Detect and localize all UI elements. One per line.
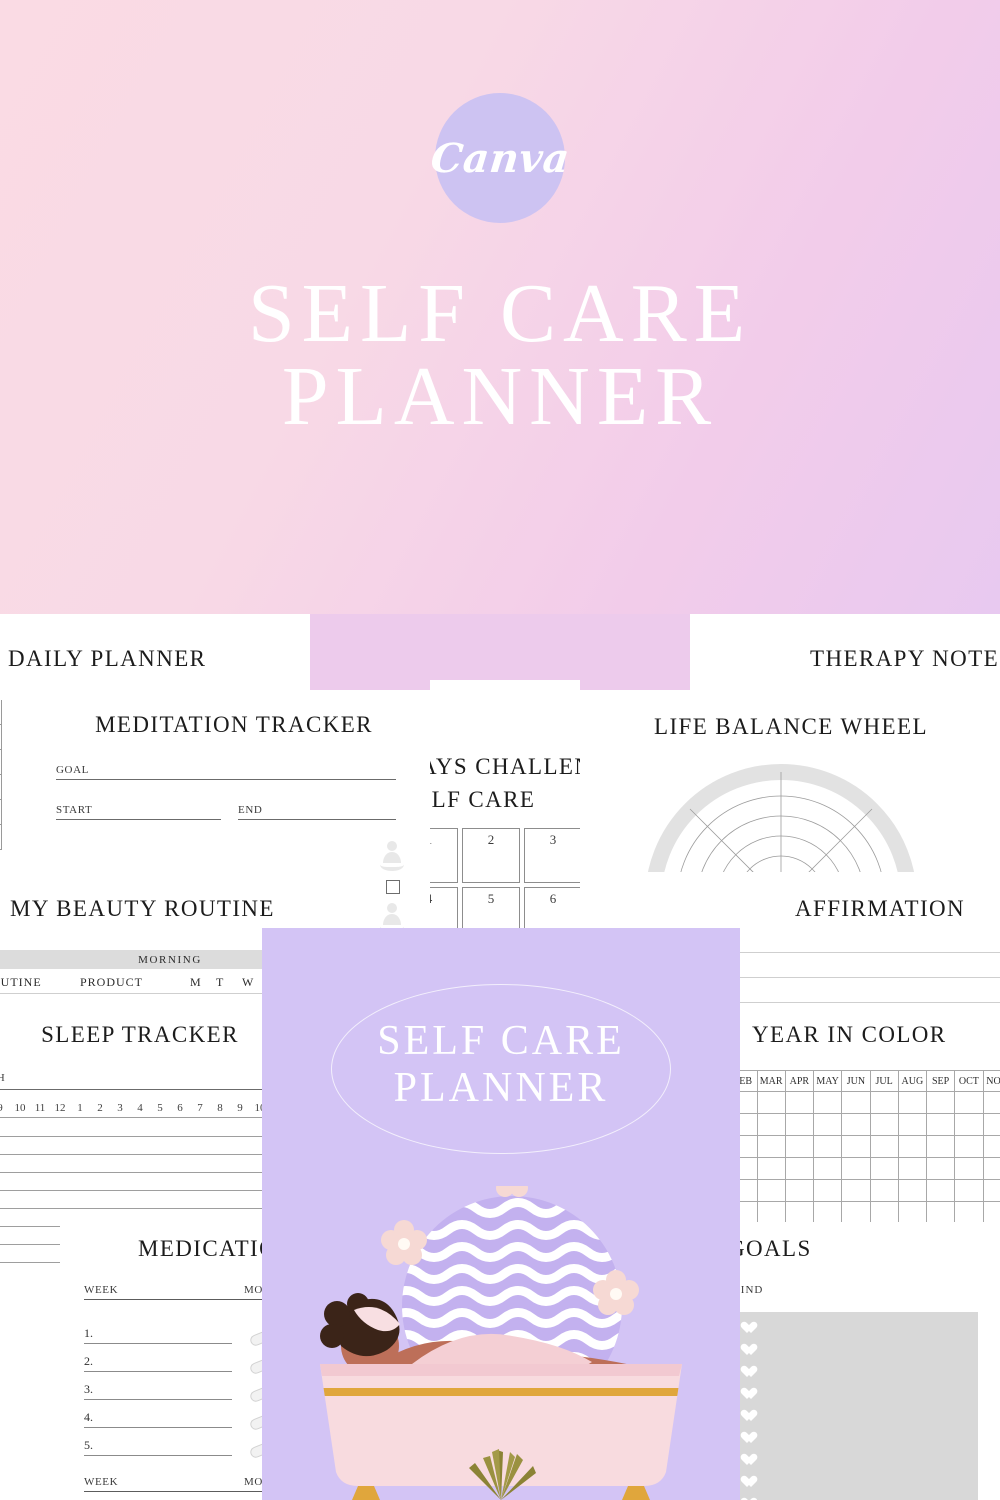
goals-panel xyxy=(738,1312,978,1500)
year-cell[interactable] xyxy=(955,1092,983,1114)
hero-banner: Canva SELF CARE PLANNER xyxy=(0,0,1000,614)
year-cell[interactable] xyxy=(814,1136,842,1158)
year-cell[interactable] xyxy=(842,1092,870,1114)
year-in-color-row[interactable] xyxy=(700,1114,1000,1136)
year-cell[interactable] xyxy=(927,1202,955,1224)
year-cell[interactable] xyxy=(899,1180,927,1202)
beauty-col-routine: ROUTINE xyxy=(0,975,80,990)
year-in-color-title: YEAR IN COLOR xyxy=(752,1022,947,1048)
year-cell[interactable] xyxy=(927,1114,955,1136)
meditation-end-field[interactable]: END xyxy=(238,804,396,820)
year-cell[interactable] xyxy=(871,1136,899,1158)
sleep-hour: 11 xyxy=(30,1102,50,1114)
year-cell[interactable] xyxy=(899,1202,927,1224)
challenge-title-line1: DAYS CHALLENGE xyxy=(430,750,580,783)
year-cell[interactable] xyxy=(899,1114,927,1136)
heart-bullet-icon[interactable] xyxy=(744,1344,757,1357)
canva-wordmark: Canva xyxy=(428,135,571,182)
canva-logo-badge: Canva xyxy=(435,93,565,223)
year-in-color-row[interactable] xyxy=(700,1180,1000,1202)
medication-row-number: 2. xyxy=(84,1354,232,1372)
sleep-hour: 12 xyxy=(50,1102,70,1114)
meditation-end-rule xyxy=(238,819,396,820)
sleep-month-label: MONTH xyxy=(0,1072,5,1084)
daily-planner-grid xyxy=(0,700,2,850)
year-in-color-header-row: JAN FEB MAR APR MAY JUN JUL AUG SEP OCT … xyxy=(700,1070,1000,1092)
year-cell[interactable] xyxy=(955,1202,983,1224)
year-cell[interactable] xyxy=(899,1158,927,1180)
meditation-start-label: START xyxy=(56,804,221,816)
sleep-hour: 9 xyxy=(0,1102,10,1114)
year-cell[interactable] xyxy=(842,1202,870,1224)
year-cell[interactable] xyxy=(871,1092,899,1114)
card-days-challenge[interactable]: DAYS CHALLENGE SELF CARE 1 2 3 4 5 6 7 8… xyxy=(430,680,580,942)
month-header: APR xyxy=(786,1070,814,1092)
medication-row-number: 1. xyxy=(84,1326,232,1344)
sleep-hour: 6 xyxy=(170,1102,190,1114)
year-cell[interactable] xyxy=(984,1092,1000,1114)
year-cell[interactable] xyxy=(786,1158,814,1180)
challenge-cell[interactable]: 2 xyxy=(462,828,520,883)
year-cell[interactable] xyxy=(814,1180,842,1202)
woman-in-bathtub-illustration xyxy=(262,1186,740,1500)
meditation-start-field[interactable]: START xyxy=(56,804,221,820)
year-cell[interactable] xyxy=(871,1158,899,1180)
heart-bullet-icon[interactable] xyxy=(744,1388,757,1401)
year-cell[interactable] xyxy=(758,1202,786,1224)
year-cell[interactable] xyxy=(984,1180,1000,1202)
year-cell[interactable] xyxy=(927,1180,955,1202)
year-cell[interactable] xyxy=(786,1114,814,1136)
year-cell[interactable] xyxy=(955,1180,983,1202)
page-title: SELF CARE PLANNER xyxy=(0,272,1000,438)
daily-planner-title: DAILY PLANNER xyxy=(8,646,206,672)
page-title-line2: PLANNER xyxy=(0,355,1000,438)
year-cell[interactable] xyxy=(842,1136,870,1158)
year-cell[interactable] xyxy=(899,1092,927,1114)
year-cell[interactable] xyxy=(786,1180,814,1202)
month-header: JUL xyxy=(871,1070,899,1092)
beauty-col-m: M xyxy=(190,975,216,990)
meditation-start-rule xyxy=(56,819,221,820)
year-cell[interactable] xyxy=(955,1158,983,1180)
challenge-grid: 1 2 3 4 5 6 7 8 9 xyxy=(430,828,580,942)
sleep-hour: 4 xyxy=(130,1102,150,1114)
sleep-hour: 8 xyxy=(210,1102,230,1114)
cover-title: SELF CARE PLANNER xyxy=(262,1018,740,1112)
beauty-col-t1: T xyxy=(216,975,242,990)
heart-bullet-icon[interactable] xyxy=(744,1322,757,1335)
meditation-end-label: END xyxy=(238,804,396,816)
cover-title-line1: SELF CARE xyxy=(262,1018,740,1065)
year-cell[interactable] xyxy=(871,1114,899,1136)
year-cell[interactable] xyxy=(842,1180,870,1202)
page-title-line1: SELF CARE xyxy=(0,272,1000,355)
year-cell[interactable] xyxy=(984,1158,1000,1180)
challenge-title-line2: SELF CARE xyxy=(430,783,580,816)
month-header: NOV xyxy=(984,1070,1000,1092)
month-header: MAR xyxy=(758,1070,786,1092)
affirmation-title: AFFIRMATION xyxy=(795,896,965,922)
year-cell[interactable] xyxy=(814,1092,842,1114)
month-header: AUG xyxy=(899,1070,927,1092)
meditation-goal-label: GOAL xyxy=(56,764,396,776)
beauty-title: MY BEAUTY ROUTINE xyxy=(10,896,275,922)
challenge-cell[interactable]: 3 xyxy=(524,828,580,883)
year-cell[interactable] xyxy=(842,1158,870,1180)
sleep-hour: 3 xyxy=(110,1102,130,1114)
year-cell[interactable] xyxy=(786,1202,814,1224)
sleep-hour: 9 xyxy=(230,1102,250,1114)
year-cell[interactable] xyxy=(758,1114,786,1136)
beauty-col-product: PRODUCT xyxy=(80,975,190,990)
cover-preview-card[interactable]: SELF CARE PLANNER xyxy=(262,928,740,1500)
year-in-color-row[interactable] xyxy=(700,1136,1000,1158)
challenge-title: DAYS CHALLENGE SELF CARE xyxy=(430,750,580,817)
cover-title-line2: PLANNER xyxy=(262,1065,740,1112)
year-cell[interactable] xyxy=(927,1136,955,1158)
challenge-cell[interactable]: 1 xyxy=(430,828,458,883)
year-cell[interactable] xyxy=(814,1114,842,1136)
month-header: JUN xyxy=(842,1070,870,1092)
hero-step-wide xyxy=(310,614,690,690)
year-cell[interactable] xyxy=(927,1158,955,1180)
medication-row-number: 4. xyxy=(84,1410,232,1428)
medication-week-label: WEEK xyxy=(84,1284,244,1296)
year-cell[interactable] xyxy=(984,1136,1000,1158)
year-cell[interactable] xyxy=(814,1158,842,1180)
lotus-pose-icon xyxy=(378,840,406,874)
heart-bullet-icon[interactable] xyxy=(744,1410,757,1423)
year-cell[interactable] xyxy=(842,1114,870,1136)
meditation-title: MEDITATION TRACKER xyxy=(8,712,460,738)
heart-bullet-icon[interactable] xyxy=(744,1476,757,1489)
sleep-month-rule xyxy=(0,1089,302,1090)
meditation-goal-field[interactable]: GOAL xyxy=(56,764,396,780)
year-cell[interactable] xyxy=(955,1136,983,1158)
sleep-hour: 7 xyxy=(190,1102,210,1114)
sleep-hour: 2 xyxy=(90,1102,110,1114)
heart-bullet-icon[interactable] xyxy=(744,1454,757,1467)
year-cell[interactable] xyxy=(814,1202,842,1224)
medication-row-number: 3. xyxy=(84,1382,232,1400)
year-cell[interactable] xyxy=(758,1180,786,1202)
year-cell[interactable] xyxy=(871,1202,899,1224)
year-cell[interactable] xyxy=(758,1158,786,1180)
year-cell[interactable] xyxy=(955,1114,983,1136)
year-cell[interactable] xyxy=(871,1180,899,1202)
beauty-band-label: MORNING xyxy=(138,954,202,966)
year-cell[interactable] xyxy=(899,1136,927,1158)
month-header: OCT xyxy=(955,1070,983,1092)
year-cell[interactable] xyxy=(758,1136,786,1158)
month-header: SEP xyxy=(927,1070,955,1092)
year-in-color-row[interactable] xyxy=(700,1158,1000,1180)
year-in-color-row[interactable] xyxy=(700,1092,1000,1114)
year-cell[interactable] xyxy=(786,1136,814,1158)
year-cell[interactable] xyxy=(758,1092,786,1114)
heart-bullet-icon[interactable] xyxy=(744,1432,757,1445)
sleep-hour: 5 xyxy=(150,1102,170,1114)
year-cell[interactable] xyxy=(786,1092,814,1114)
year-cell[interactable] xyxy=(984,1202,1000,1224)
wheel-title: LIFE BALANCE WHEEL xyxy=(654,714,928,740)
sleep-month-field[interactable]: MONTH xyxy=(0,1068,302,1090)
therapy-title: THERAPY NOTES xyxy=(810,646,1000,672)
meditation-goal-rule xyxy=(56,779,396,780)
goals-heart-list[interactable] xyxy=(744,1322,757,1500)
medication-row-number: 5. xyxy=(84,1438,232,1456)
goals-title: GOALS xyxy=(728,1236,812,1262)
card-goals[interactable]: GOALS MIND xyxy=(700,1222,1000,1500)
year-cell[interactable] xyxy=(984,1114,1000,1136)
year-cell[interactable] xyxy=(927,1092,955,1114)
month-header: MAY xyxy=(814,1070,842,1092)
medication-week-label-2: WEEK xyxy=(84,1476,244,1488)
sleep-hour: 10 xyxy=(10,1102,30,1114)
year-in-color-row[interactable] xyxy=(700,1202,1000,1224)
heart-bullet-icon[interactable] xyxy=(744,1366,757,1379)
sleep-hour: 1 xyxy=(70,1102,90,1114)
meditation-checkbox[interactable] xyxy=(386,880,400,894)
